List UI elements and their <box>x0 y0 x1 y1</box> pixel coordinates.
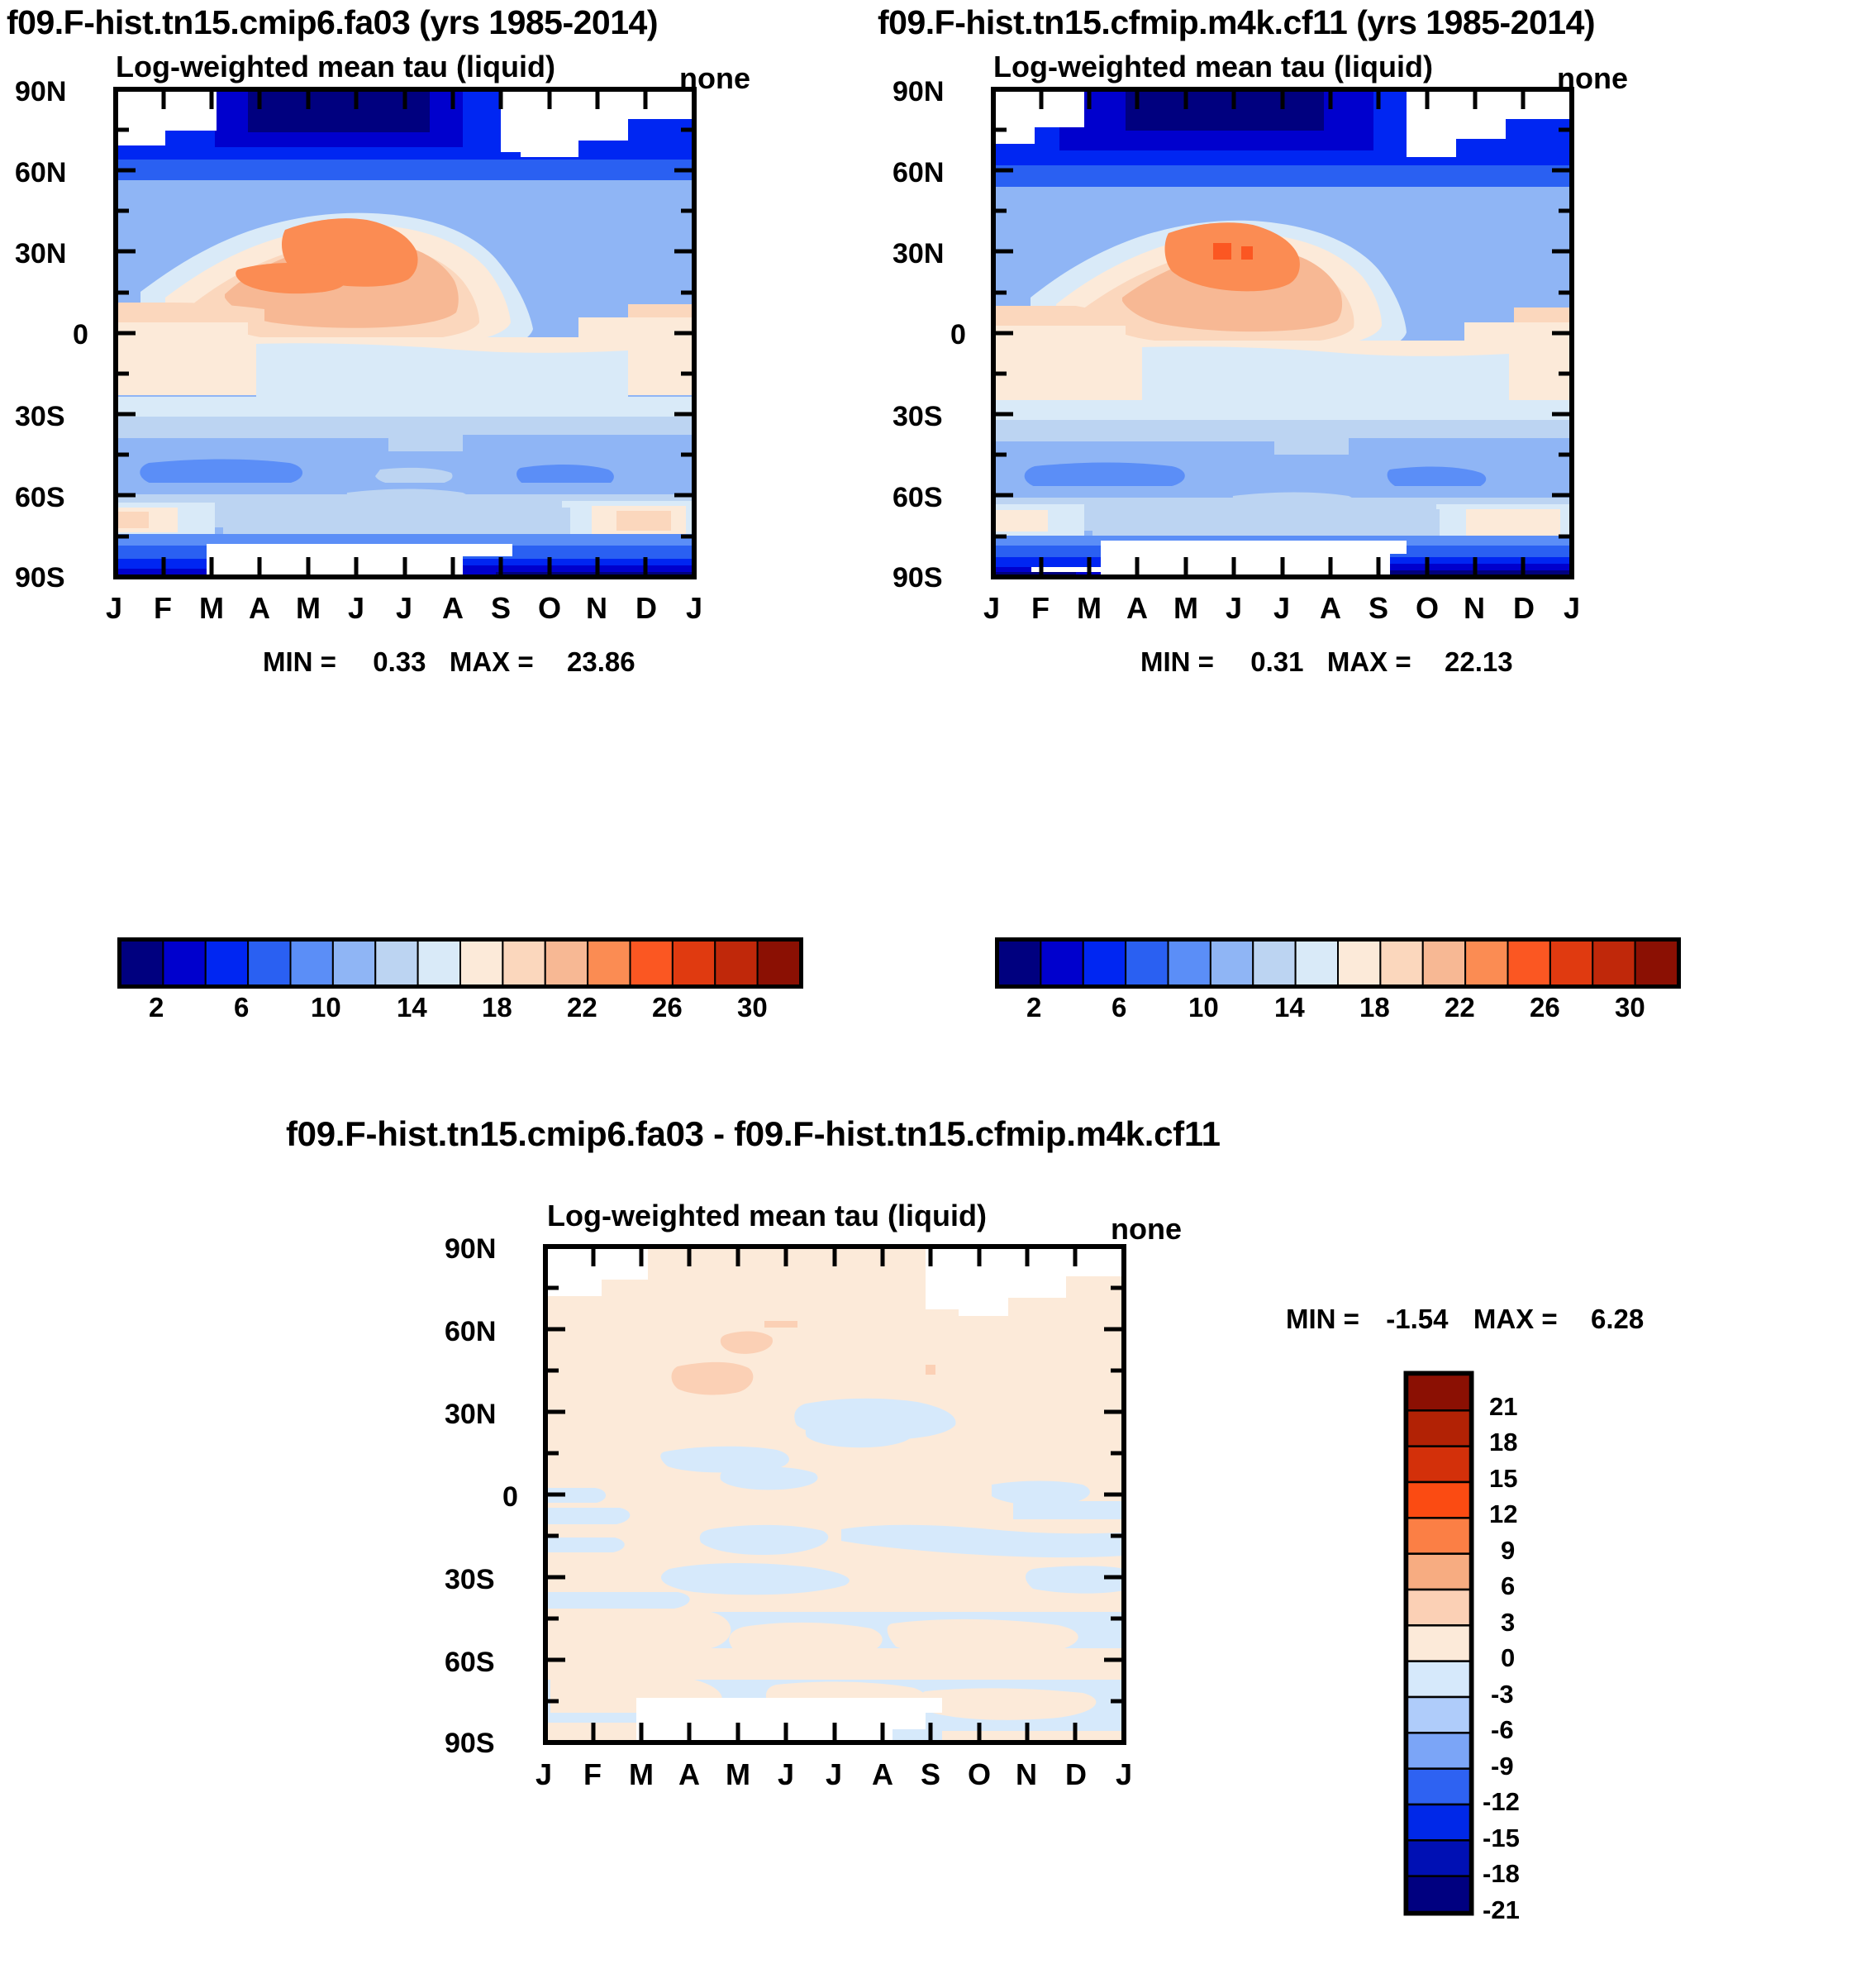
diff-cblabel-5: 6 <box>1501 1571 1515 1601</box>
colorbar-swatch <box>206 941 248 985</box>
diff-xtick-11: D <box>1065 1757 1087 1792</box>
right-xtick-1: F <box>1031 591 1050 626</box>
right-colorbar-swatches <box>995 937 1681 989</box>
diff-xtick-9: O <box>968 1757 991 1792</box>
left-colorbar-swatches <box>117 937 803 989</box>
left-xtick-7: A <box>442 591 464 626</box>
colorbar-swatch <box>1465 941 1507 985</box>
left-panel-subtitle: Log-weighted mean tau (liquid) <box>116 50 555 84</box>
right-xtick-5: J <box>1226 591 1242 626</box>
colorbar-swatch <box>163 941 205 985</box>
diff-cblabel-8: -3 <box>1491 1680 1514 1709</box>
left-cblabel-7: 30 <box>737 992 768 1023</box>
right-ytick-30n: 30N <box>893 238 944 270</box>
right-cblabel-5: 22 <box>1445 992 1475 1023</box>
colorbar-swatch <box>1407 1840 1470 1876</box>
colorbar-swatch <box>375 941 417 985</box>
diff-colorbar-swatches <box>1403 1371 1474 1916</box>
colorbar-swatch <box>291 941 333 985</box>
colorbar-swatch <box>998 941 1040 985</box>
left-min-value: 0.33 <box>373 646 426 677</box>
colorbar-swatch <box>1040 941 1083 985</box>
diff-min-label: MIN = <box>1286 1304 1359 1334</box>
left-xtick-5: J <box>348 591 364 626</box>
right-cblabel-1: 6 <box>1112 992 1126 1023</box>
colorbar-swatch <box>1407 1769 1470 1804</box>
diff-xtick-10: N <box>1016 1757 1037 1792</box>
left-ytick-90s: 90S <box>15 562 65 594</box>
diff-cblabel-6: 3 <box>1501 1608 1515 1638</box>
left-xtick-12: J <box>686 591 702 626</box>
diff-cblabel-2: 15 <box>1489 1464 1517 1494</box>
right-plot <box>878 81 1704 610</box>
diff-cblabel-14: -21 <box>1483 1895 1520 1925</box>
diff-cblabel-9: -6 <box>1491 1715 1514 1745</box>
left-max-label: MAX = <box>450 646 534 677</box>
diff-ytick-0: 0 <box>502 1481 518 1514</box>
left-xtick-8: S <box>491 591 511 626</box>
right-ytick-30s: 30S <box>893 401 943 433</box>
left-ytick-0: 0 <box>73 319 88 351</box>
colorbar-swatch <box>1407 1518 1470 1553</box>
left-cblabel-4: 18 <box>482 992 512 1023</box>
right-xtick-3: A <box>1126 591 1148 626</box>
colorbar-swatch <box>1423 941 1465 985</box>
left-panel-title: f09.F-hist.tn15.cmip6.fa03 (yrs 1985-201… <box>7 3 658 42</box>
right-cblabel-7: 30 <box>1615 992 1645 1023</box>
right-xtick-2: M <box>1077 591 1102 626</box>
colorbar-swatch <box>1253 941 1295 985</box>
right-cblabel-3: 14 <box>1274 992 1305 1023</box>
right-ytick-90s: 90S <box>893 562 943 594</box>
right-xtick-8: S <box>1369 591 1388 626</box>
diff-cblabel-12: -15 <box>1483 1824 1520 1853</box>
diff-xtick-2: M <box>629 1757 654 1792</box>
right-panel-title: f09.F-hist.tn15.cfmip.m4k.cf11 (yrs 1985… <box>878 3 1595 42</box>
diff-ytick-30s: 30S <box>445 1564 495 1596</box>
colorbar-swatch <box>1508 941 1550 985</box>
colorbar-swatch <box>1407 1410 1470 1446</box>
right-colorbar: 2 6 10 14 18 22 26 30 <box>995 937 1681 989</box>
diff-xtick-7: A <box>872 1757 893 1792</box>
right-xtick-12: J <box>1564 591 1580 626</box>
right-max-value: 22.13 <box>1445 646 1513 677</box>
colorbar-swatch <box>1407 1447 1470 1482</box>
colorbar-swatch <box>1407 1482 1470 1518</box>
diff-cblabel-1: 18 <box>1489 1428 1517 1457</box>
diff-cblabel-0: 21 <box>1489 1392 1517 1422</box>
right-xtick-10: N <box>1464 591 1485 626</box>
left-ytick-30n: 30N <box>15 238 66 270</box>
left-ytick-60s: 60S <box>15 482 65 514</box>
left-colorbar: 2 6 10 14 18 22 26 30 <box>117 937 803 989</box>
right-cblabel-2: 10 <box>1188 992 1219 1023</box>
diff-panel-subtitle: Log-weighted mean tau (liquid) <box>547 1199 987 1233</box>
left-xtick-11: D <box>635 591 657 626</box>
colorbar-swatch <box>1407 1375 1470 1410</box>
colorbar-swatch <box>502 941 545 985</box>
right-ytick-60s: 60S <box>893 482 943 514</box>
colorbar-swatch <box>588 941 630 985</box>
colorbar-swatch <box>1550 941 1592 985</box>
colorbar-swatch <box>715 941 757 985</box>
colorbar-swatch <box>248 941 290 985</box>
colorbar-swatch <box>758 941 800 985</box>
colorbar-swatch <box>1211 941 1253 985</box>
colorbar-swatch <box>1635 941 1678 985</box>
left-cblabel-3: 14 <box>397 992 427 1023</box>
left-xtick-9: O <box>538 591 561 626</box>
right-minmax: MIN = 0.31 MAX = 22.13 <box>1140 646 1513 678</box>
left-xtick-6: J <box>396 591 412 626</box>
diff-xtick-0: J <box>536 1757 552 1792</box>
right-xtick-4: M <box>1173 591 1198 626</box>
left-xtick-2: M <box>199 591 224 626</box>
colorbar-swatch <box>418 941 460 985</box>
left-cblabel-0: 2 <box>149 992 164 1023</box>
diff-xtick-5: J <box>778 1757 794 1792</box>
right-panel-subtitle: Log-weighted mean tau (liquid) <box>993 50 1433 84</box>
diff-ytick-90n: 90N <box>445 1233 496 1266</box>
colorbar-swatch <box>1126 941 1168 985</box>
right-ytick-0: 0 <box>950 319 966 351</box>
right-contour-field <box>993 89 1572 577</box>
diff-max-value: 6.28 <box>1591 1304 1644 1334</box>
left-cblabel-6: 26 <box>652 992 683 1023</box>
diff-cblabel-10: -9 <box>1491 1752 1514 1781</box>
diff-min-value: -1.54 <box>1386 1304 1448 1334</box>
diff-minmax: MIN = -1.54 MAX = 6.28 <box>1286 1304 1644 1335</box>
difference-title: f09.F-hist.tn15.cmip6.fa03 - f09.F-hist.… <box>286 1114 1221 1154</box>
right-cblabel-6: 26 <box>1530 992 1560 1023</box>
right-xtick-0: J <box>983 591 1000 626</box>
colorbar-swatch <box>1407 1733 1470 1768</box>
diff-xtick-8: S <box>921 1757 940 1792</box>
left-minmax: MIN = 0.33 MAX = 23.86 <box>263 646 635 678</box>
right-min-value: 0.31 <box>1250 646 1303 677</box>
colorbar-swatch <box>1407 1625 1470 1661</box>
right-ytick-90n: 90N <box>893 76 944 108</box>
right-cblabel-0: 2 <box>1026 992 1041 1023</box>
colorbar-swatch <box>1407 1876 1470 1912</box>
colorbar-swatch <box>631 941 673 985</box>
left-cblabel-1: 6 <box>234 992 249 1023</box>
left-xtick-10: N <box>586 591 607 626</box>
diff-cblabel-7: 0 <box>1501 1643 1515 1673</box>
left-ytick-60n: 60N <box>15 157 66 189</box>
left-plot <box>0 81 826 610</box>
left-cblabel-2: 10 <box>311 992 341 1023</box>
right-xtick-7: A <box>1320 591 1341 626</box>
colorbar-swatch <box>460 941 502 985</box>
colorbar-swatch <box>1407 1590 1470 1625</box>
colorbar-swatch <box>1407 1661 1470 1697</box>
diff-colorbar: 21 18 15 12 9 6 3 0 -3 -6 -9 -12 -15 -18… <box>1403 1371 1474 1916</box>
colorbar-swatch <box>1083 941 1126 985</box>
diff-cblabel-4: 9 <box>1501 1536 1515 1566</box>
right-min-label: MIN = <box>1140 646 1214 677</box>
colorbar-swatch <box>1407 1554 1470 1590</box>
left-xtick-0: J <box>106 591 122 626</box>
diff-cblabel-13: -18 <box>1483 1859 1520 1889</box>
diff-contour-field <box>545 1247 1124 1742</box>
colorbar-swatch <box>333 941 375 985</box>
diff-plot <box>430 1238 1256 1776</box>
right-xtick-9: O <box>1416 591 1439 626</box>
right-cblabel-4: 18 <box>1359 992 1390 1023</box>
diff-ytick-60s: 60S <box>445 1647 495 1679</box>
colorbar-swatch <box>1380 941 1422 985</box>
diff-max-label: MAX = <box>1473 1304 1558 1334</box>
left-contour-field <box>116 89 699 577</box>
right-max-label: MAX = <box>1327 646 1411 677</box>
colorbar-swatch <box>545 941 588 985</box>
left-max-value: 23.86 <box>567 646 635 677</box>
diff-ytick-90s: 90S <box>445 1728 495 1760</box>
colorbar-swatch <box>1169 941 1211 985</box>
colorbar-swatch <box>673 941 715 985</box>
colorbar-swatch <box>1592 941 1635 985</box>
left-ytick-30s: 30S <box>15 401 65 433</box>
diff-xtick-4: M <box>726 1757 750 1792</box>
diff-cblabel-3: 12 <box>1489 1499 1517 1529</box>
left-min-label: MIN = <box>263 646 336 677</box>
left-ytick-90n: 90N <box>15 76 66 108</box>
left-xtick-3: A <box>249 591 270 626</box>
colorbar-swatch <box>1296 941 1338 985</box>
left-cblabel-5: 22 <box>567 992 597 1023</box>
diff-ytick-60n: 60N <box>445 1316 496 1348</box>
colorbar-swatch <box>1407 1697 1470 1733</box>
diff-xtick-6: J <box>826 1757 842 1792</box>
right-xtick-11: D <box>1513 591 1535 626</box>
diff-ytick-30n: 30N <box>445 1399 496 1431</box>
colorbar-swatch <box>121 941 163 985</box>
colorbar-swatch <box>1407 1804 1470 1840</box>
right-xtick-6: J <box>1273 591 1290 626</box>
diff-cblabel-11: -12 <box>1483 1787 1520 1817</box>
diff-xtick-12: J <box>1116 1757 1132 1792</box>
diff-xtick-3: A <box>678 1757 700 1792</box>
left-xtick-4: M <box>296 591 321 626</box>
colorbar-swatch <box>1338 941 1380 985</box>
right-ytick-60n: 60N <box>893 157 944 189</box>
left-xtick-1: F <box>154 591 172 626</box>
diff-xtick-1: F <box>583 1757 602 1792</box>
